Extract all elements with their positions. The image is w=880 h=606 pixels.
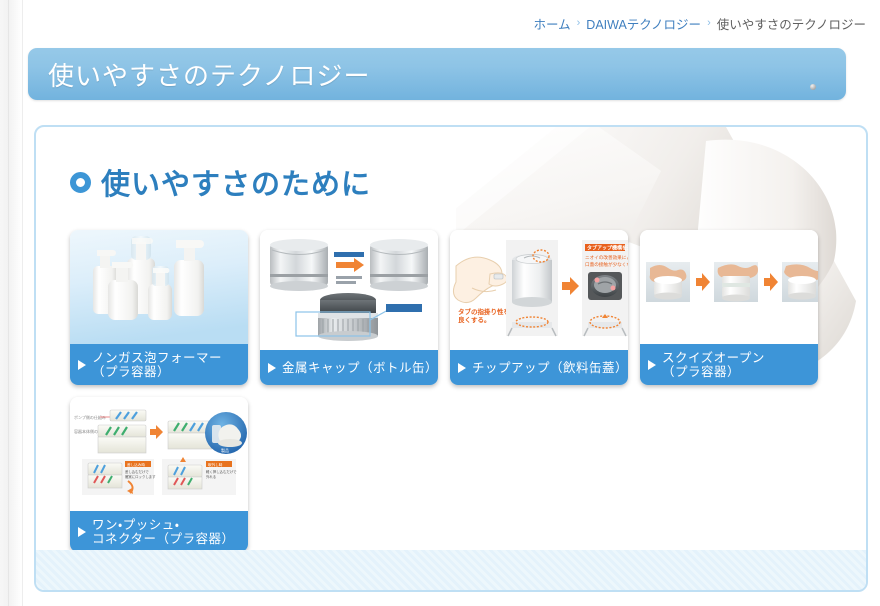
squeeze-open-photos-icon [640,230,818,344]
page-title: 使いやすさのテクノロジー [28,56,370,93]
svg-text:タブの指掛り性を: タブの指掛り性を [458,307,510,316]
play-triangle-icon [78,527,86,537]
svg-text:タブアップ機構を追加: タブアップ機構を追加 [587,245,628,252]
section-heading: 使いやすさのために [70,161,371,203]
card-thumbnail: ポンプ側の仕組み 容器本体側の仕組み [70,397,248,511]
card-squeeze-open[interactable]: スクイズオープン （プラ容器） [640,230,818,385]
content-panel: 使いやすさのために [34,125,868,592]
svg-text:外れる: 外れる [206,474,216,479]
card-label: スクイズオープン （プラ容器） [640,344,818,385]
svg-text:取外し時: 取外し時 [208,462,223,467]
card-tab-up[interactable]: タブの指掛り性を 良くする。 [450,230,628,385]
play-triangle-icon [268,363,276,373]
play-triangle-icon [458,363,466,373]
svg-text:良くする。: 良くする。 [458,315,491,324]
breadcrumb: ホーム › DAIWAテクノロジー › 使いやすさのテクノロジー [533,14,866,32]
svg-text:差し込み時: 差し込み時 [127,462,145,467]
card-metal-cap[interactable]: 金属キャップ（ボトル缶） [260,230,438,385]
ring-bullet-icon [70,172,91,193]
svg-text:ニオイの改善効果により、: ニオイの改善効果により、 [585,254,628,261]
metal-cap-diagram-icon [260,230,438,350]
svg-text:確実にロックします: 確実にロックします [125,474,156,479]
page-left-edge [0,0,23,606]
breadcrumb-separator-icon: › [707,17,711,29]
card-label: 金属キャップ（ボトル缶） [260,350,438,385]
card-label-text: ワン・プッシュ・ コネクター（プラ容器） [92,518,235,546]
svg-text:口蓋の接触が少なくなります。: 口蓋の接触が少なくなります。 [585,261,628,268]
svg-text:軽く押し込むだけで: 軽く押し込むだけで [206,469,237,474]
card-label: ワン・プッシュ・ コネクター（プラ容器） [70,511,248,552]
banner-decor-dot-icon [810,84,816,90]
card-label-text: スクイズオープン （プラ容器） [662,351,765,379]
breadcrumb-item-daiwa-technology[interactable]: DAIWAテクノロジー [586,14,701,33]
play-triangle-icon [648,360,656,370]
card-thumbnail [260,230,438,350]
page-left-rule [8,0,9,606]
breadcrumb-separator-icon: › [577,17,581,29]
card-non-gas-foamer[interactable]: ノンガス泡フォーマー （プラ容器） [70,230,248,385]
breadcrumb-item-home[interactable]: ホーム [533,14,570,33]
card-label: チップアップ（飲料缶蓋） [450,350,628,385]
one-push-connector-diagram-icon: ポンプ側の仕組み 容器本体側の仕組み [70,397,248,511]
svg-text:差し込むだけで: 差し込むだけで [125,469,149,474]
card-thumbnail [70,230,248,344]
section-heading-text: 使いやすさのために [101,161,371,203]
card-thumbnail [640,230,818,344]
breadcrumb-item-current: 使いやすさのテクノロジー [717,14,866,33]
foamer-bottles-photo-icon [70,230,248,344]
panel-footer-stripes [36,550,866,590]
card-label-text: 金属キャップ（ボトル缶） [282,361,432,375]
card-row-2: ポンプ側の仕組み 容器本体側の仕組み [70,397,830,552]
tab-up-can-lid-diagram-icon: タブの指掛り性を 良くする。 [450,230,628,350]
card-one-push-connector[interactable]: ポンプ側の仕組み 容器本体側の仕組み [70,397,248,552]
page-title-banner: 使いやすさのテクノロジー [28,48,846,100]
card-label-text: チップアップ（飲料缶蓋） [472,361,622,375]
play-triangle-icon [78,360,86,370]
card-label: ノンガス泡フォーマー （プラ容器） [70,344,248,385]
card-thumbnail: タブの指掛り性を 良くする。 [450,230,628,350]
technology-card-grid: ノンガス泡フォーマー （プラ容器） [70,230,830,564]
svg-text:製品: 製品 [221,447,229,453]
card-row-1: ノンガス泡フォーマー （プラ容器） [70,230,830,385]
card-label-text: ノンガス泡フォーマー （プラ容器） [92,351,222,379]
